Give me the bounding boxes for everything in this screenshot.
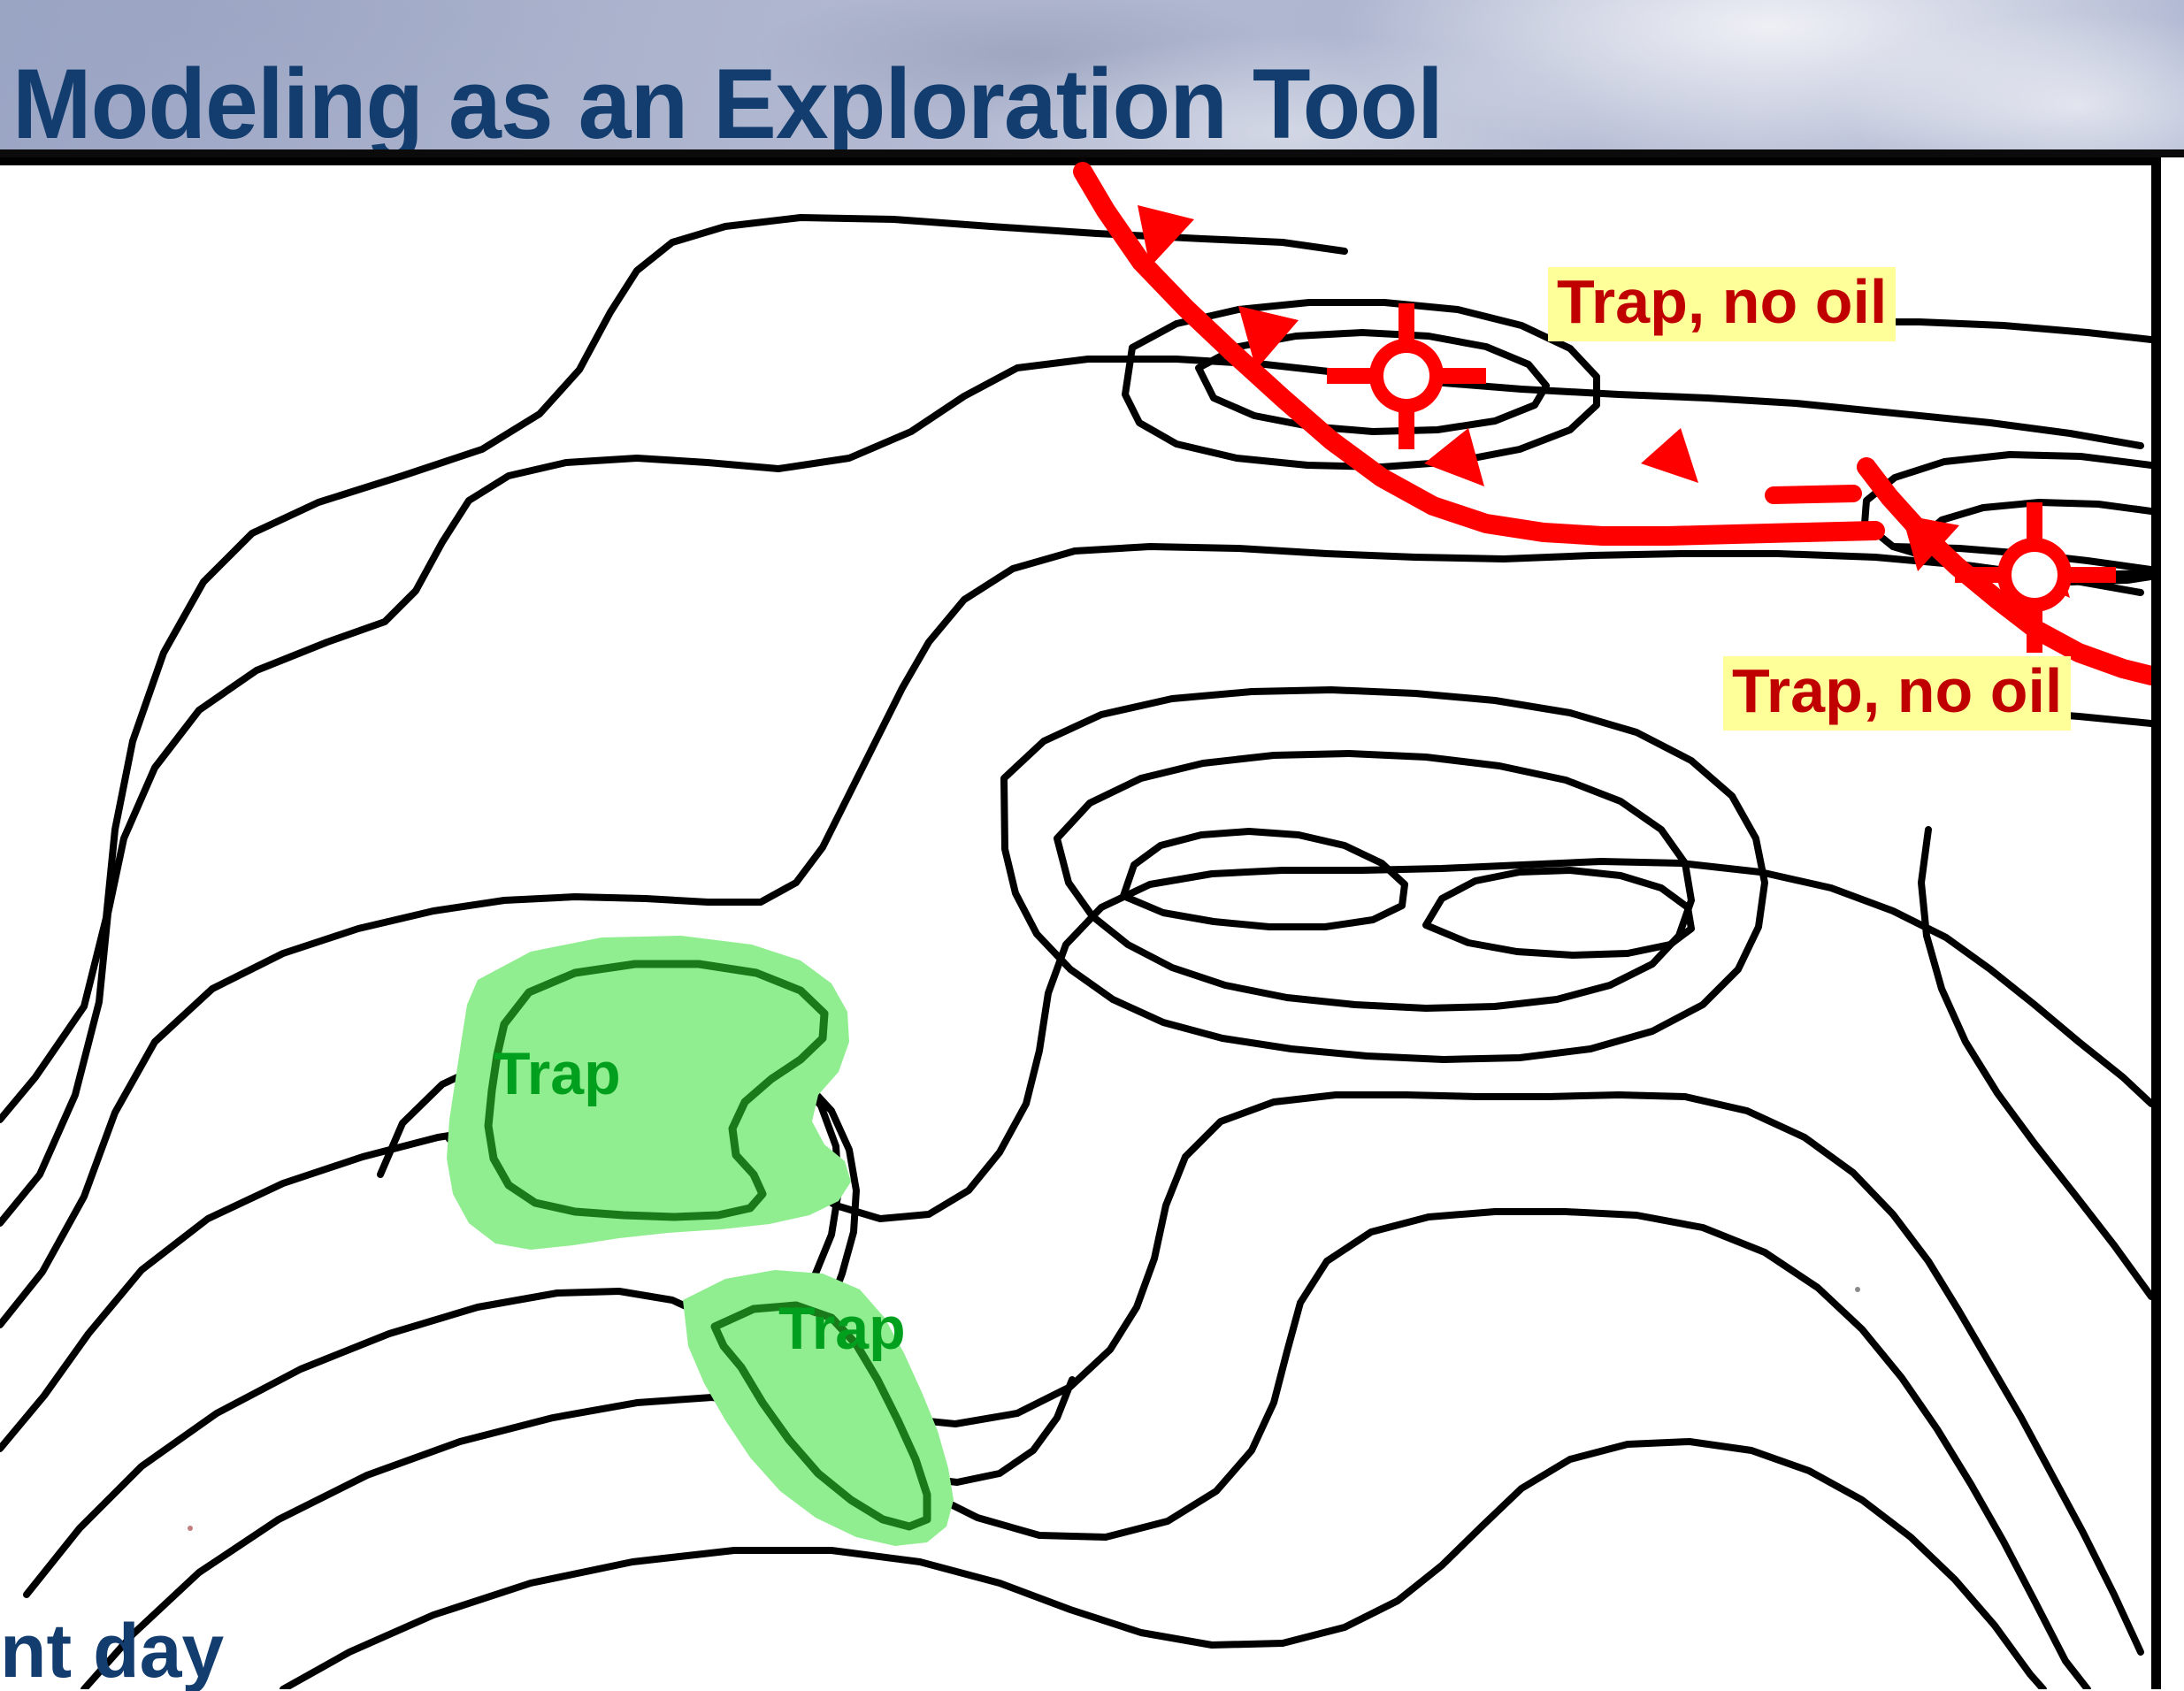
fault-tooth — [1424, 428, 1484, 486]
slide-body-text: nt day — [0, 1613, 224, 1689]
contour-lines — [0, 218, 2151, 1689]
speck-mark — [1855, 1287, 1860, 1292]
slide-canvas: Modeling as an Exploration Tool — [0, 0, 2184, 1691]
trap-areas — [447, 936, 954, 1546]
label-trap-no-oil-1: Trap, no oil — [1548, 267, 1896, 341]
map-top-border — [0, 157, 2151, 165]
title-banner: Modeling as an Exploration Tool — [0, 0, 2184, 157]
page-title: Modeling as an Exploration Tool — [12, 55, 1443, 154]
structure-contour-map — [0, 157, 2161, 1689]
map-drawing — [0, 157, 2151, 1689]
label-trap-no-oil-2: Trap, no oil — [1723, 656, 2071, 731]
contour-line — [1426, 870, 1691, 955]
contour-line — [283, 1442, 2043, 1689]
label-trap-1: Trap — [494, 1044, 621, 1104]
contour-line — [1921, 830, 2151, 1297]
well-symbol[interactable] — [1955, 502, 2116, 653]
contour-line — [27, 1095, 2141, 1652]
fault-tooth — [1641, 428, 1698, 483]
speck-mark — [188, 1526, 193, 1531]
label-trap-2: Trap — [778, 1298, 906, 1358]
